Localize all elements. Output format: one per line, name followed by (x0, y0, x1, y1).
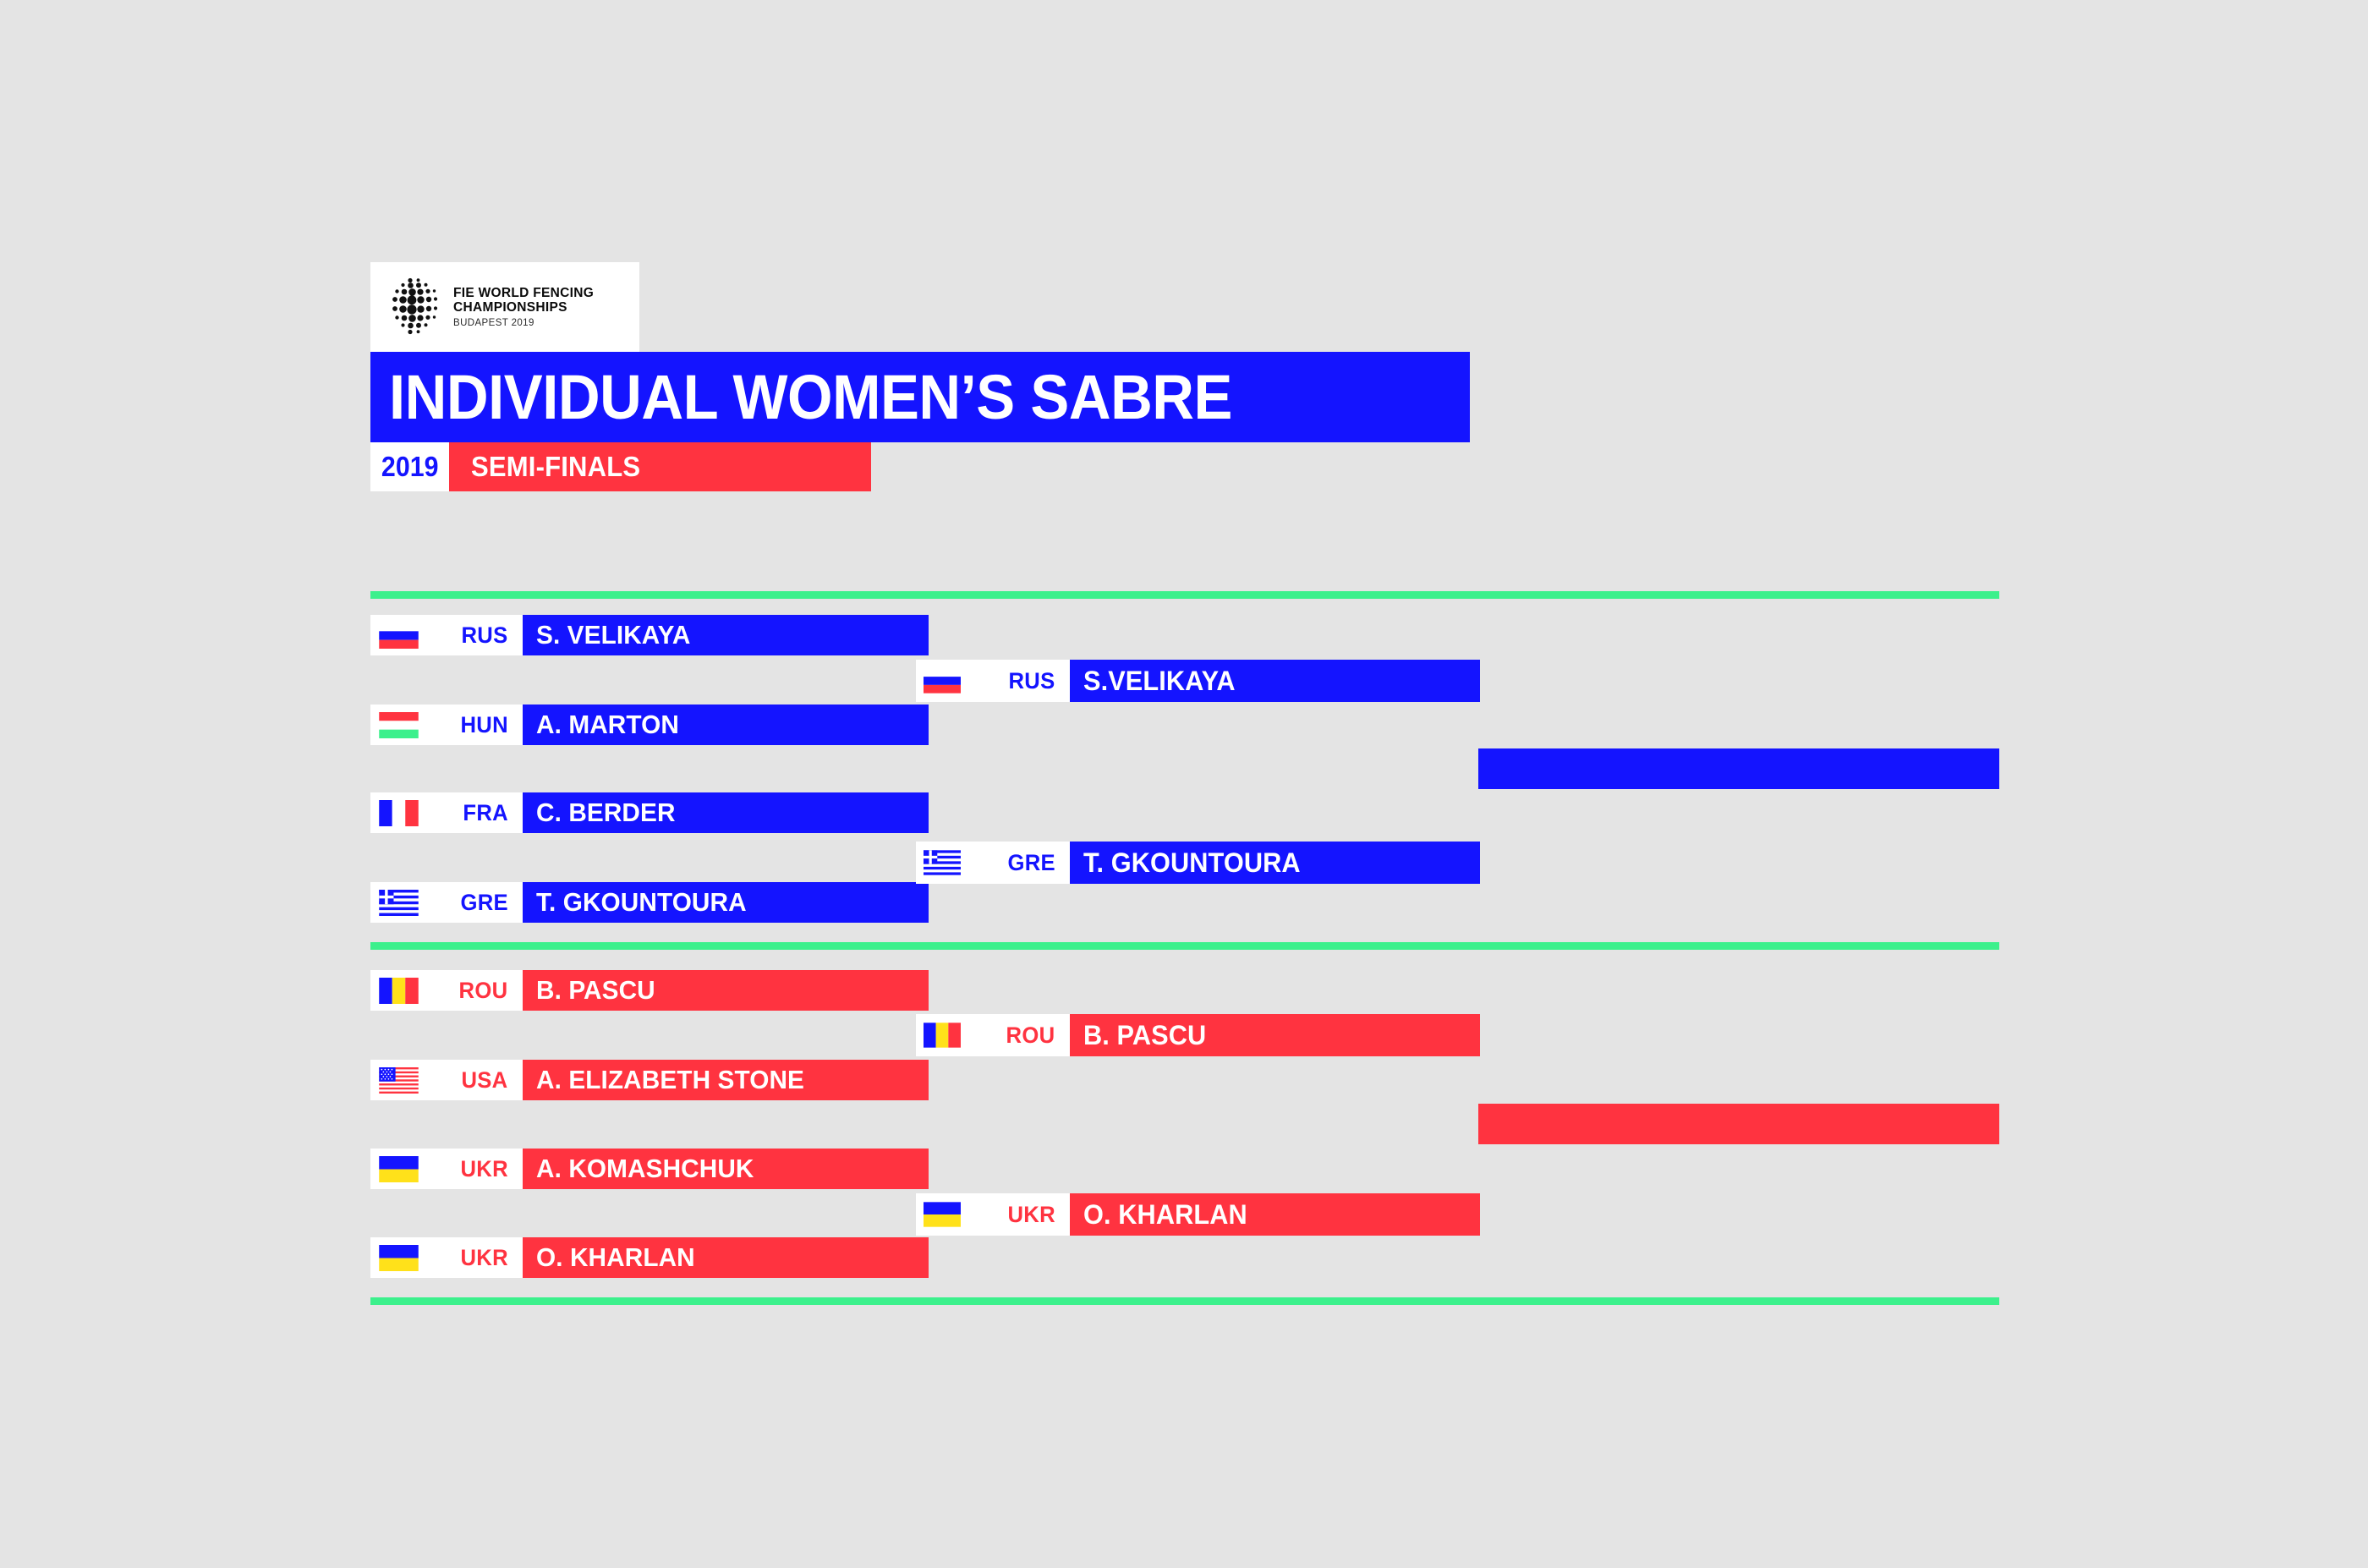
flag-greece-icon (378, 890, 419, 916)
competitor-name: T. GKOUNTOURA (536, 887, 747, 918)
year-label: 2019 (381, 451, 439, 483)
country-code: ROU (1006, 1022, 1055, 1049)
bracket-separator-middle (370, 942, 1999, 950)
championship-logo: FIE WORLD FENCING CHAMPIONSHIPS BUDAPEST… (370, 262, 639, 352)
competitor-name-box: O. KHARLAN (1070, 1193, 1480, 1236)
bracket-separator-top (370, 591, 1999, 599)
country-box: ROU (916, 1014, 1070, 1056)
logo-wordmark: FIE WORLD FENCING CHAMPIONSHIPS BUDAPEST… (453, 286, 594, 329)
flag-ukraine-icon (378, 1156, 419, 1182)
bracket-page: FIE WORLD FENCING CHAMPIONSHIPS BUDAPEST… (0, 0, 2368, 1568)
competitor-name: O. KHARLAN (1083, 1199, 1247, 1231)
country-box: RUS (916, 660, 1070, 702)
competitor-name: S. VELIKAYA (536, 620, 690, 650)
competitor-name-box: A. KOMASHCHUK (523, 1149, 929, 1189)
round2-competitor-4[interactable]: UKR O. KHARLAN (916, 1193, 1480, 1236)
logo-line-1: FIE WORLD FENCING (453, 286, 594, 300)
round1-competitor-7[interactable]: UKR A. KOMASHCHUK (370, 1149, 929, 1189)
competitor-name: A. KOMASHCHUK (536, 1154, 754, 1184)
competitor-name-box: A. ELIZABETH STONE (523, 1060, 929, 1100)
flag-russia-icon (378, 622, 419, 649)
country-code: GRE (1007, 850, 1055, 876)
competitor-name-box: B. PASCU (523, 970, 929, 1011)
logo-line-2: CHAMPIONSHIPS (453, 300, 594, 315)
round1-competitor-2[interactable]: HUN A. MARTON (370, 705, 929, 745)
flag-usa-icon (378, 1067, 419, 1094)
page-title-bar: INDIVIDUAL WOMEN’S SABRE (370, 352, 1470, 442)
country-code: USA (462, 1067, 508, 1094)
country-code: HUN (460, 712, 507, 738)
country-code: FRA (463, 800, 508, 826)
competitor-name-box: A. MARTON (523, 705, 929, 745)
flag-romania-icon (378, 978, 419, 1004)
flag-ukraine-icon (924, 1200, 961, 1229)
competitor-name: S.VELIKAYA (1083, 666, 1236, 697)
country-code: UKR (460, 1245, 507, 1271)
phase-badge: SEMI-FINALS (449, 442, 871, 491)
competitor-name: C. BERDER (536, 798, 676, 828)
country-box: UKR (370, 1149, 523, 1189)
country-box: FRA (370, 792, 523, 833)
round1-competitor-1[interactable]: RUS S. VELIKAYA (370, 615, 929, 655)
competitor-name: B. PASCU (1083, 1020, 1206, 1051)
final-slot-red[interactable] (1478, 1104, 1999, 1144)
round1-competitor-6[interactable]: USA A. ELIZABETH STONE (370, 1060, 929, 1100)
phase-label: SEMI-FINALS (471, 451, 640, 483)
competitor-name: T. GKOUNTOURA (1083, 847, 1301, 879)
country-code: GRE (460, 890, 507, 916)
country-code: UKR (460, 1156, 507, 1182)
bracket-separator-bottom (370, 1297, 1999, 1305)
round2-competitor-2[interactable]: GRE T. GKOUNTOURA (916, 842, 1480, 884)
round2-competitor-1[interactable]: RUS S.VELIKAYA (916, 660, 1480, 702)
year-badge: 2019 (370, 442, 449, 491)
round2-competitor-3[interactable]: ROU B. PASCU (916, 1014, 1480, 1056)
country-box: GRE (916, 842, 1070, 884)
competitor-name: A. ELIZABETH STONE (536, 1065, 804, 1095)
flag-france-icon (378, 800, 419, 826)
country-code: UKR (1007, 1202, 1055, 1228)
subtitle-row: 2019 SEMI-FINALS (370, 442, 871, 491)
country-box: HUN (370, 705, 523, 745)
country-box: UKR (916, 1193, 1070, 1236)
header: FIE WORLD FENCING CHAMPIONSHIPS BUDAPEST… (370, 262, 1470, 491)
round1-competitor-4[interactable]: GRE T. GKOUNTOURA (370, 882, 929, 923)
country-code: RUS (462, 622, 508, 649)
competitor-name: A. MARTON (536, 710, 679, 740)
country-box: USA (370, 1060, 523, 1100)
competitor-name-box: O. KHARLAN (523, 1237, 929, 1278)
competitor-name-box: T. GKOUNTOURA (523, 882, 929, 923)
competitor-name: O. KHARLAN (536, 1242, 695, 1273)
country-box: UKR (370, 1237, 523, 1278)
competitor-name-box: T. GKOUNTOURA (1070, 842, 1480, 884)
flag-hungary-icon (378, 712, 419, 738)
country-box: RUS (370, 615, 523, 655)
competitor-name-box: S.VELIKAYA (1070, 660, 1480, 702)
country-code: RUS (1009, 668, 1055, 694)
flag-romania-icon (924, 1021, 961, 1050)
page-title: INDIVIDUAL WOMEN’S SABRE (389, 366, 1232, 429)
competitor-name: B. PASCU (536, 975, 655, 1006)
competitor-name-box: S. VELIKAYA (523, 615, 929, 655)
competitor-name-box: C. BERDER (523, 792, 929, 833)
competitor-name-box: B. PASCU (1070, 1014, 1480, 1056)
country-box: ROU (370, 970, 523, 1011)
round1-competitor-5[interactable]: ROU B. PASCU (370, 970, 929, 1011)
country-box: GRE (370, 882, 523, 923)
round1-competitor-3[interactable]: FRA C. BERDER (370, 792, 929, 833)
round1-competitor-8[interactable]: UKR O. KHARLAN (370, 1237, 929, 1278)
fie-dot-circle-logo-icon (389, 277, 441, 337)
flag-russia-icon (924, 666, 961, 695)
flag-ukraine-icon (378, 1245, 419, 1271)
final-slot-blue[interactable] (1478, 748, 1999, 789)
logo-line-3: BUDAPEST 2019 (453, 318, 594, 329)
flag-greece-icon (924, 848, 961, 877)
country-code: ROU (459, 978, 508, 1004)
